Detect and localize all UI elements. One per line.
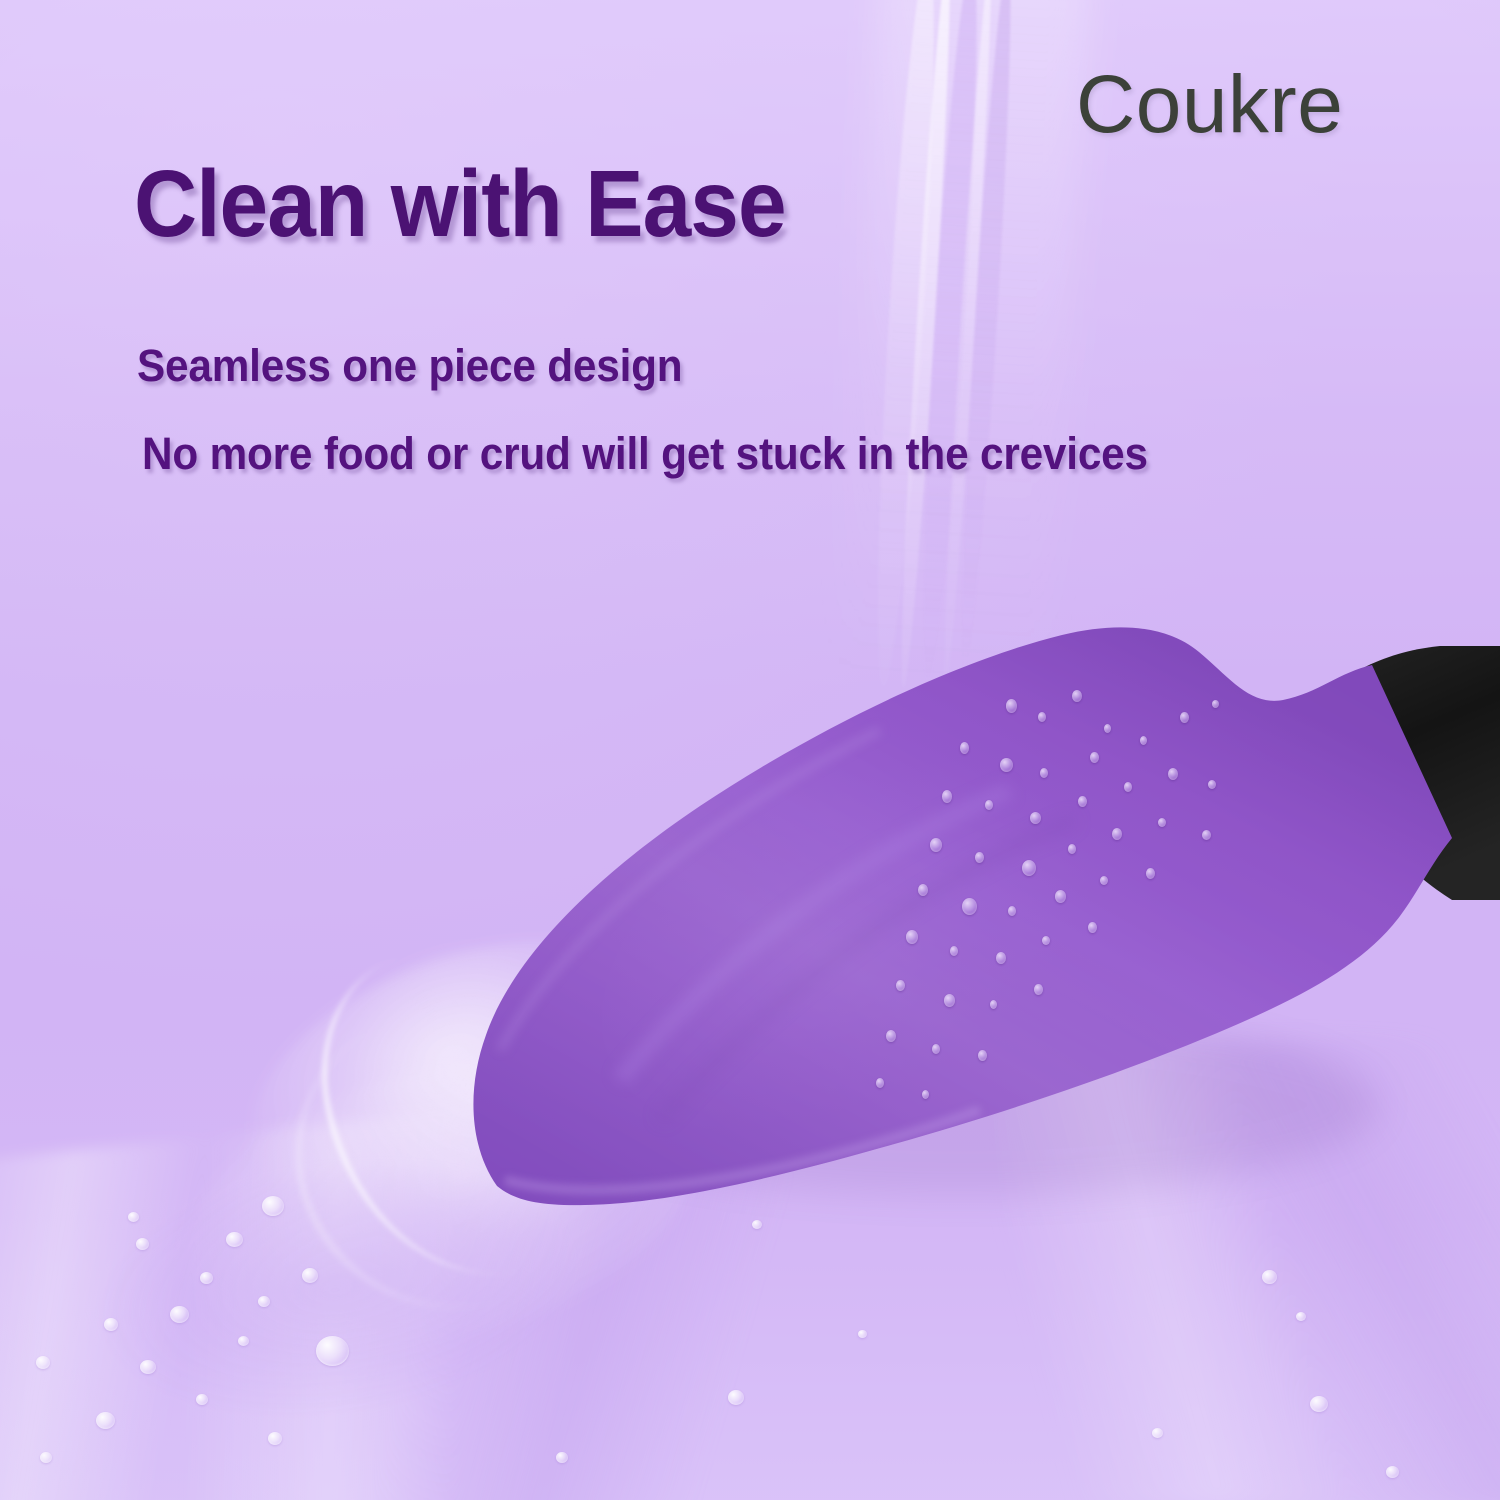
brand-name: Coukre [1076, 58, 1343, 152]
benefit-line-1: Seamless one piece design [137, 340, 682, 392]
benefit-line-2: No more food or crud will get stuck in t… [142, 428, 1148, 480]
product-marketing-image: Coukre Clean with Ease Seamless one piec… [0, 0, 1500, 1500]
headline: Clean with Ease [134, 150, 786, 259]
